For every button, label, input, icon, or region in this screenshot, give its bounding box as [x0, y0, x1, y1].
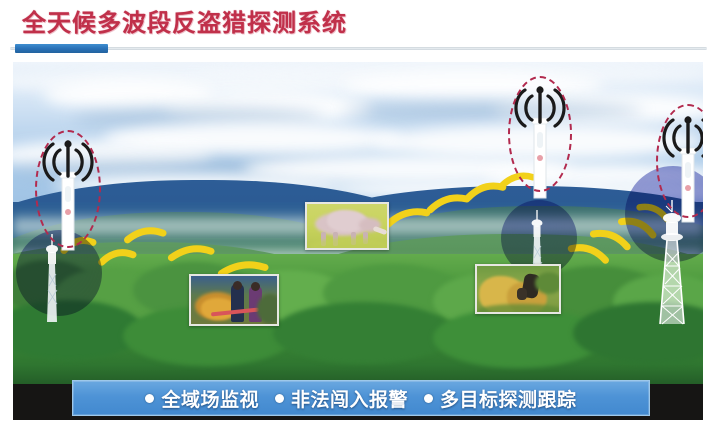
- bullet-dot-icon: [424, 394, 433, 403]
- banner-item-surveillance: 全域场监视: [145, 385, 259, 412]
- divider-track: [10, 47, 707, 50]
- scene-image: [13, 62, 703, 420]
- feature-banner: 全域场监视 非法闯入报警 多目标探测跟踪: [72, 380, 650, 416]
- detection-marker-left: [35, 130, 101, 248]
- detection-marker-center: [508, 76, 572, 192]
- banner-item-label: 全域场监视: [161, 385, 259, 412]
- page-title: 全天候多波段反盗猎探测系统: [22, 3, 347, 38]
- banner-item-multi-target-tracking: 多目标探测跟踪: [424, 385, 577, 412]
- slide-root: 全天候多波段反盗猎探测系统: [0, 0, 715, 423]
- banner-item-intrusion-alarm: 非法闯入报警: [275, 385, 408, 412]
- bullet-dot-icon: [145, 394, 154, 403]
- inset-poachers: [189, 274, 279, 326]
- bullet-dot-icon: [275, 394, 284, 403]
- inset-animal: [475, 264, 561, 314]
- divider-accent: [15, 44, 108, 53]
- title-divider: [10, 44, 707, 53]
- inset-rhino: [305, 202, 389, 250]
- banner-item-label: 多目标探测跟踪: [440, 385, 577, 412]
- banner-item-label: 非法闯入报警: [291, 385, 408, 412]
